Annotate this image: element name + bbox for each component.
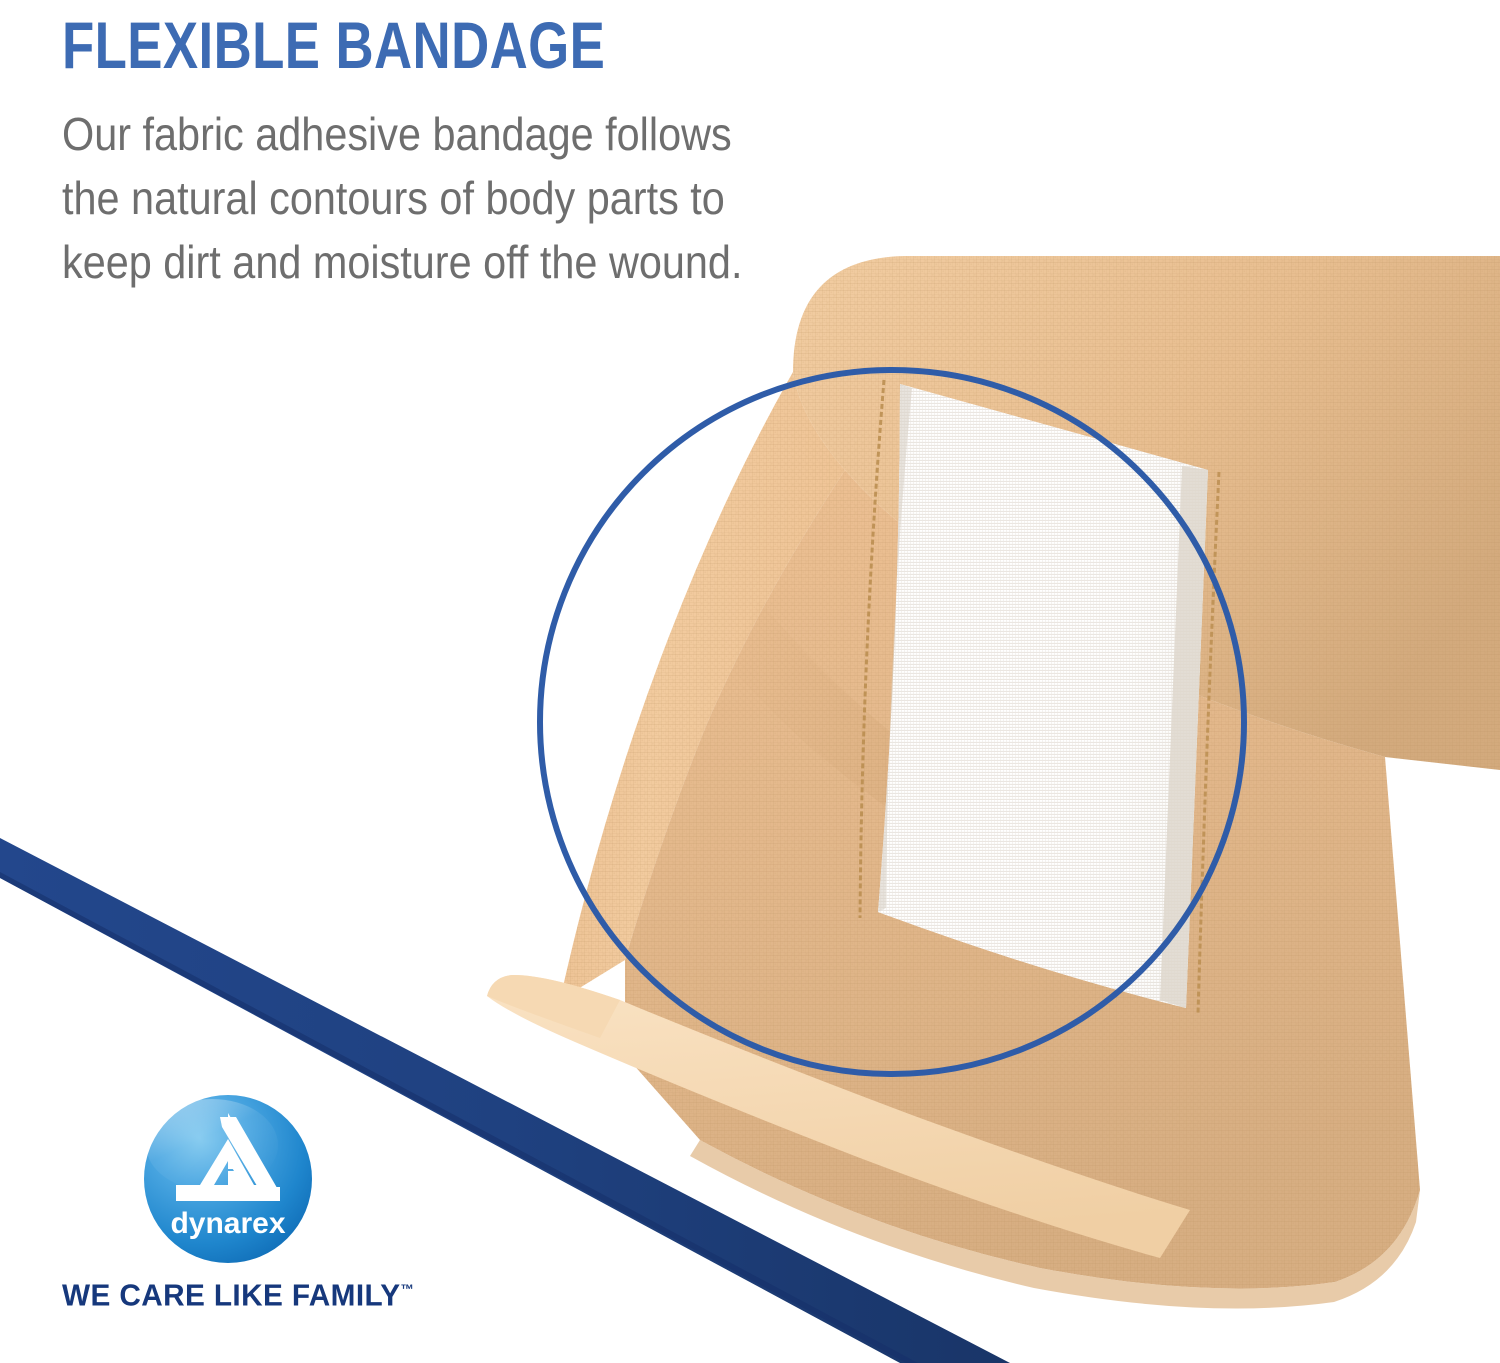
- marketing-copy-block: FLEXIBLE BANDAGE Our fabric adhesive ban…: [62, 0, 862, 294]
- dynarex-logo-badge: dynarex: [142, 1093, 314, 1265]
- poster-canvas: FLEXIBLE BANDAGE Our fabric adhesive ban…: [0, 0, 1500, 1363]
- brand-tagline: WE CARE LIKE FAMILY™: [62, 1265, 408, 1313]
- dynarex-wordmark: dynarex: [170, 1207, 285, 1240]
- brand-lockup: dynarex WE CARE LIKE FAMILY™: [62, 1093, 422, 1313]
- trademark-symbol: ™: [401, 1281, 414, 1297]
- product-description: Our fabric adhesive bandage follows the …: [62, 84, 773, 294]
- page-title: FLEXIBLE BANDAGE: [62, 0, 702, 84]
- brand-tagline-text: WE CARE LIKE FAMILY: [62, 1277, 401, 1312]
